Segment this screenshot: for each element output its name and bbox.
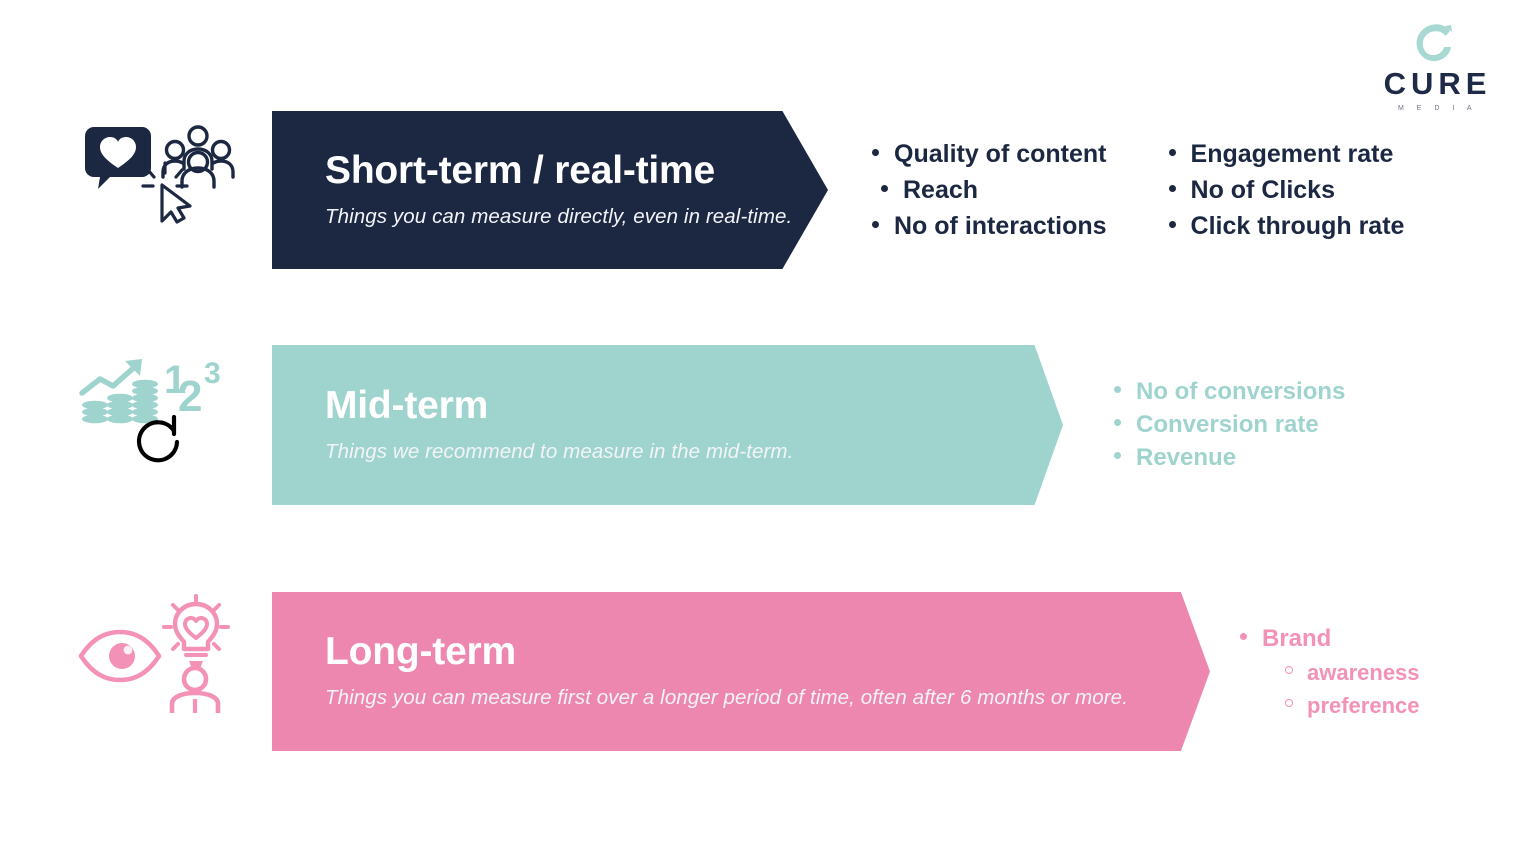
list-item: Quality of content	[872, 142, 1107, 167]
banner-mid-term: Mid-term Things we recommend to measure …	[272, 345, 1063, 505]
list-item-label: No of interactions	[894, 214, 1107, 239]
bullet-column-1: Brand awareness preference	[1240, 627, 1420, 717]
bullet-list-mid-term: No of conversions Conversion rate Revenu…	[1114, 345, 1345, 505]
bullet-dot-icon	[872, 149, 879, 156]
bullet-dot-icon	[1169, 149, 1176, 156]
banner-subtitle: Things you can measure first over a long…	[325, 686, 1210, 711]
eye-icon	[78, 630, 162, 682]
banner-title: Long-term	[325, 632, 1210, 673]
list-item: Engagement rate	[1169, 142, 1405, 167]
banner-long-term: Long-term Things you can measure first o…	[272, 592, 1210, 751]
bullet-column-1: No of conversions Conversion rate Revenu…	[1114, 380, 1345, 470]
list-item-label: Revenue	[1136, 446, 1236, 470]
bullet-dot-icon	[1240, 633, 1247, 640]
bullet-column-1: Quality of content Reach No of interacti…	[872, 142, 1107, 239]
bullet-column-2: Engagement rate No of Clicks Click throu…	[1169, 142, 1405, 239]
list-item: Conversion rate	[1114, 413, 1345, 437]
circular-arrow-c-mark-icon	[1412, 22, 1458, 66]
list-item: Click through rate	[1169, 214, 1405, 239]
list-item: No of Clicks	[1169, 178, 1405, 203]
list-item: No of interactions	[872, 214, 1107, 239]
list-item-label: No of conversions	[1136, 380, 1345, 404]
brand-logo: CURE M E D I A	[1370, 22, 1500, 112]
banner-short-term: Short-term / real-time Things you can me…	[272, 111, 828, 269]
bullet-list-short-term: Quality of content Reach No of interacti…	[872, 111, 1404, 269]
list-item-label: Brand	[1262, 627, 1331, 651]
list-item-label: Click through rate	[1191, 214, 1405, 239]
row-mid-term: 1 3 2 Mid-term Things we recommend to me…	[0, 345, 1536, 505]
bullet-circle-outline-icon	[1285, 699, 1293, 707]
row-short-term: Short-term / real-time Things you can me…	[0, 111, 1536, 269]
bullet-dot-icon	[881, 185, 888, 192]
banner-subtitle: Things you can measure directly, even in…	[325, 205, 828, 230]
list-item-label: Engagement rate	[1191, 142, 1394, 167]
refresh-circular-arrow-icon	[130, 413, 188, 471]
list-item-label: No of Clicks	[1191, 178, 1335, 203]
bullet-dot-icon	[1114, 419, 1121, 426]
person-icon	[164, 666, 226, 714]
lightbulb-heart-icon	[160, 594, 232, 672]
banner-title: Short-term / real-time	[325, 151, 828, 192]
bullet-dot-icon	[1114, 386, 1121, 393]
list-item-label: preference	[1307, 695, 1420, 717]
icon-cluster-long-term	[78, 592, 258, 751]
one-two-three-icon: 1 3 2	[164, 355, 230, 417]
click-cursor-icon	[140, 159, 202, 223]
list-item: Brand	[1240, 627, 1420, 651]
svg-text:3: 3	[204, 357, 221, 390]
list-item-label: awareness	[1307, 662, 1420, 684]
list-item-label: Quality of content	[894, 142, 1107, 167]
icon-cluster-mid-term: 1 3 2	[78, 345, 258, 505]
bullet-dot-icon	[872, 221, 879, 228]
banner-title: Mid-term	[325, 386, 1063, 427]
bullet-dot-icon	[1169, 221, 1176, 228]
list-item-label: Conversion rate	[1136, 413, 1319, 437]
list-item: Reach	[872, 178, 1107, 203]
bullet-list-long-term: Brand awareness preference	[1240, 592, 1420, 751]
icon-cluster-short-term	[78, 111, 258, 269]
logo-wordmark: CURE	[1370, 68, 1500, 99]
bullet-dot-icon	[1114, 452, 1121, 459]
list-item: Revenue	[1114, 446, 1345, 470]
list-item-sub: preference	[1240, 695, 1420, 717]
list-item-label: Reach	[903, 178, 978, 203]
row-long-term: Long-term Things you can measure first o…	[0, 592, 1536, 751]
bullet-dot-icon	[1169, 185, 1176, 192]
list-item: No of conversions	[1114, 380, 1345, 404]
list-item-sub: awareness	[1240, 662, 1420, 684]
banner-subtitle: Things we recommend to measure in the mi…	[325, 440, 1063, 465]
bullet-circle-outline-icon	[1285, 666, 1293, 674]
